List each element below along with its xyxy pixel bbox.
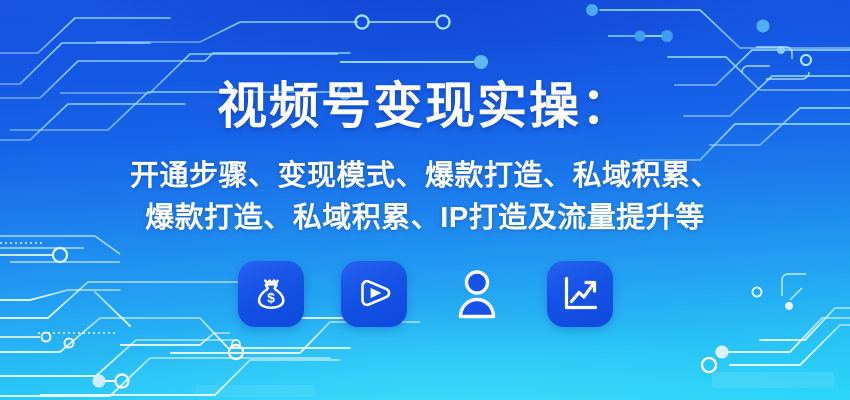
play-button-icon-tile[interactable] <box>341 261 407 327</box>
svg-text:$: $ <box>267 289 275 305</box>
promo-banner: 视频号变现实操： 开通步骤、变现模式、爆款打造、私域积累、 爆款打造、私域积累、… <box>0 0 850 400</box>
growth-chart-icon <box>559 273 601 315</box>
page-title: 视频号变现实操： <box>0 77 850 135</box>
subtitle-line-2: 爆款打造、私域积累、IP打造及流量提升等 <box>0 199 850 237</box>
money-bag-icon: $ <box>251 274 291 314</box>
feature-icon-row: $ <box>0 261 850 327</box>
growth-chart-icon-tile[interactable] <box>547 261 613 327</box>
money-bag-icon-tile[interactable]: $ <box>238 261 304 327</box>
play-button-icon <box>353 273 395 315</box>
person-icon-wrap[interactable] <box>444 261 510 327</box>
person-icon <box>454 268 500 320</box>
subtitle-line-1: 开通步骤、变现模式、爆款打造、私域积累、 <box>0 157 850 195</box>
